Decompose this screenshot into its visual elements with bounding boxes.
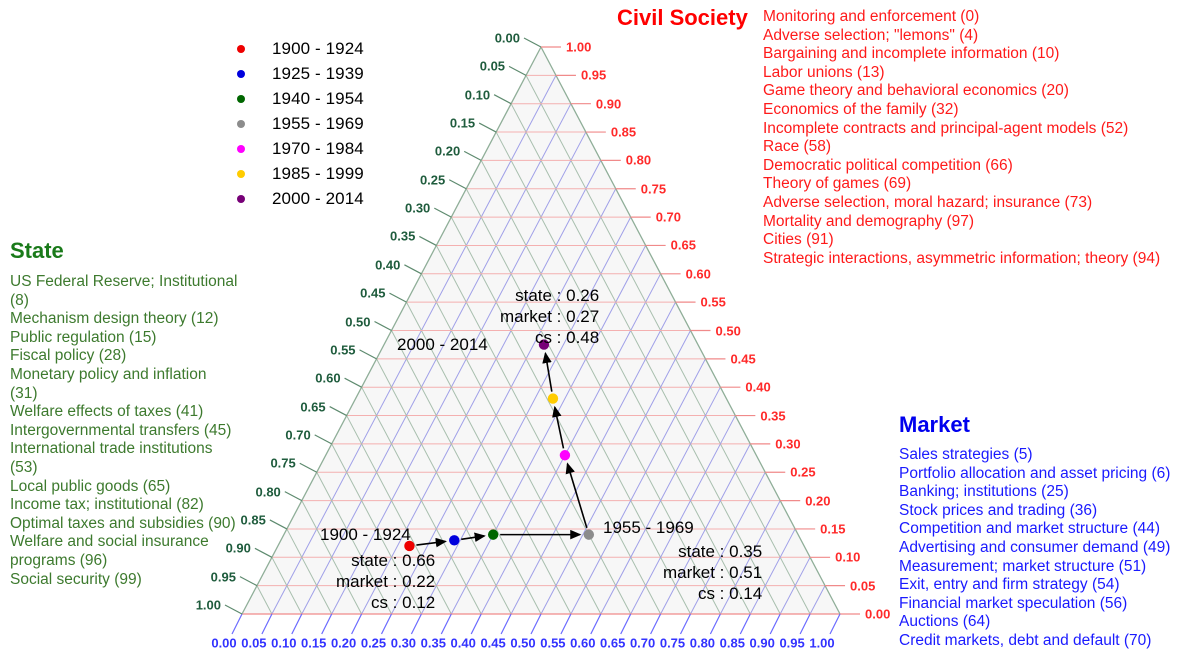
tick-label-bottom-axis: 0.40 xyxy=(451,636,476,651)
tick-label-right-axis: 0.75 xyxy=(641,181,666,196)
annotation-state-value: state : 0.26 xyxy=(500,285,599,306)
tick-label-bottom-axis: 0.10 xyxy=(271,636,296,651)
tick-label-bottom-axis: 0.70 xyxy=(630,636,655,651)
tick-label-right-axis: 0.55 xyxy=(701,295,726,310)
tick-label-left-axis: 0.85 xyxy=(241,512,266,527)
tick-label-left-axis: 0.45 xyxy=(360,286,385,301)
annotation-state-value: state : 0.66 xyxy=(336,550,435,571)
tick-label-bottom-axis: 0.15 xyxy=(301,636,326,651)
point-annotation: state : 0.26market : 0.27cs : 0.48 xyxy=(500,285,599,348)
tick-label-left-axis: 0.05 xyxy=(480,59,505,74)
tick-label-left-axis: 0.10 xyxy=(465,87,490,102)
tick-label-left-axis: 0.30 xyxy=(405,201,430,216)
tick-label-right-axis: 0.15 xyxy=(820,521,845,536)
tick-label-left-axis: 0.70 xyxy=(285,427,310,442)
tick-label-left-axis: 0.80 xyxy=(255,484,280,499)
point-annotation: state : 0.66market : 0.22cs : 0.12 xyxy=(336,550,435,613)
tick-label-right-axis: 0.85 xyxy=(611,125,636,140)
tick-label-bottom-axis: 0.50 xyxy=(510,636,535,651)
tick-label-bottom-axis: 0.65 xyxy=(600,636,625,651)
tick-label-bottom-axis: 0.75 xyxy=(660,636,685,651)
tick-label-left-axis: 0.95 xyxy=(211,569,236,584)
tick-label-left-axis: 0.65 xyxy=(300,399,325,414)
tick-label-right-axis: 0.25 xyxy=(790,465,815,480)
tick-label-left-axis: 0.90 xyxy=(226,541,251,556)
tick-label-right-axis: 1.00 xyxy=(566,40,591,55)
tick-label-right-axis: 0.35 xyxy=(760,408,785,423)
annotation-cs-value: cs : 0.12 xyxy=(336,592,435,613)
tick-label-left-axis: 0.15 xyxy=(450,116,475,131)
tick-label-left-axis: 0.35 xyxy=(390,229,415,244)
annotation-cs-value: cs : 0.48 xyxy=(500,327,599,348)
tick-label-right-axis: 0.70 xyxy=(656,210,681,225)
annotation-period-label: 1955 - 1969 xyxy=(603,518,694,538)
tick-label-bottom-axis: 0.55 xyxy=(540,636,565,651)
tick-label-bottom-axis: 0.00 xyxy=(211,636,236,651)
point-annotation: state : 0.35market : 0.51cs : 0.14 xyxy=(663,541,762,604)
tick-label-left-axis: 0.40 xyxy=(375,257,400,272)
tick-label-left-axis: 0.55 xyxy=(330,342,355,357)
tick-label-right-axis: 0.45 xyxy=(730,351,755,366)
tick-label-bottom-axis: 1.00 xyxy=(809,636,834,651)
annotation-market-value: market : 0.22 xyxy=(336,571,435,592)
tick-label-right-axis: 0.90 xyxy=(596,96,621,111)
tick-label-bottom-axis: 0.30 xyxy=(391,636,416,651)
tick-label-bottom-axis: 0.90 xyxy=(750,636,775,651)
tick-label-left-axis: 0.00 xyxy=(495,31,520,46)
tick-label-left-axis: 0.20 xyxy=(435,144,460,159)
tick-label-bottom-axis: 0.20 xyxy=(331,636,356,651)
tick-label-left-axis: 0.75 xyxy=(270,456,295,471)
tick-label-bottom-axis: 0.45 xyxy=(480,636,505,651)
tick-label-right-axis: 0.95 xyxy=(581,68,606,83)
tick-label-bottom-axis: 0.05 xyxy=(241,636,266,651)
annotation-cs-value: cs : 0.14 xyxy=(663,583,762,604)
annotation-period-label: 2000 - 2014 xyxy=(397,335,488,355)
tick-label-bottom-axis: 0.80 xyxy=(690,636,715,651)
tick-label-right-axis: 0.50 xyxy=(716,323,741,338)
tick-label-right-axis: 0.80 xyxy=(626,153,651,168)
tick-label-right-axis: 0.30 xyxy=(775,436,800,451)
tick-label-left-axis: 0.60 xyxy=(315,371,340,386)
tick-label-bottom-axis: 0.60 xyxy=(570,636,595,651)
tick-label-right-axis: 0.05 xyxy=(850,578,875,593)
tick-label-bottom-axis: 0.25 xyxy=(361,636,386,651)
annotation-market-value: market : 0.27 xyxy=(500,306,599,327)
annotation-market-value: market : 0.51 xyxy=(663,562,762,583)
tick-label-right-axis: 0.40 xyxy=(745,380,770,395)
annotation-state-value: state : 0.35 xyxy=(663,541,762,562)
tick-label-right-axis: 0.00 xyxy=(865,607,890,622)
tick-label-left-axis: 1.00 xyxy=(196,598,221,613)
tick-label-bottom-axis: 0.85 xyxy=(720,636,745,651)
tick-label-bottom-axis: 0.35 xyxy=(421,636,446,651)
tick-label-right-axis: 0.10 xyxy=(835,550,860,565)
tick-label-left-axis: 0.25 xyxy=(420,172,445,187)
annotation-period-label: 1900 - 1924 xyxy=(320,525,411,545)
tick-label-right-axis: 0.65 xyxy=(671,238,696,253)
tick-label-bottom-axis: 0.95 xyxy=(779,636,804,651)
ternary-plot-text-layer: 0.001.000.000.050.950.050.100.900.100.15… xyxy=(0,0,1197,664)
tick-label-left-axis: 0.50 xyxy=(345,314,370,329)
tick-label-right-axis: 0.60 xyxy=(686,266,711,281)
tick-label-right-axis: 0.20 xyxy=(805,493,830,508)
